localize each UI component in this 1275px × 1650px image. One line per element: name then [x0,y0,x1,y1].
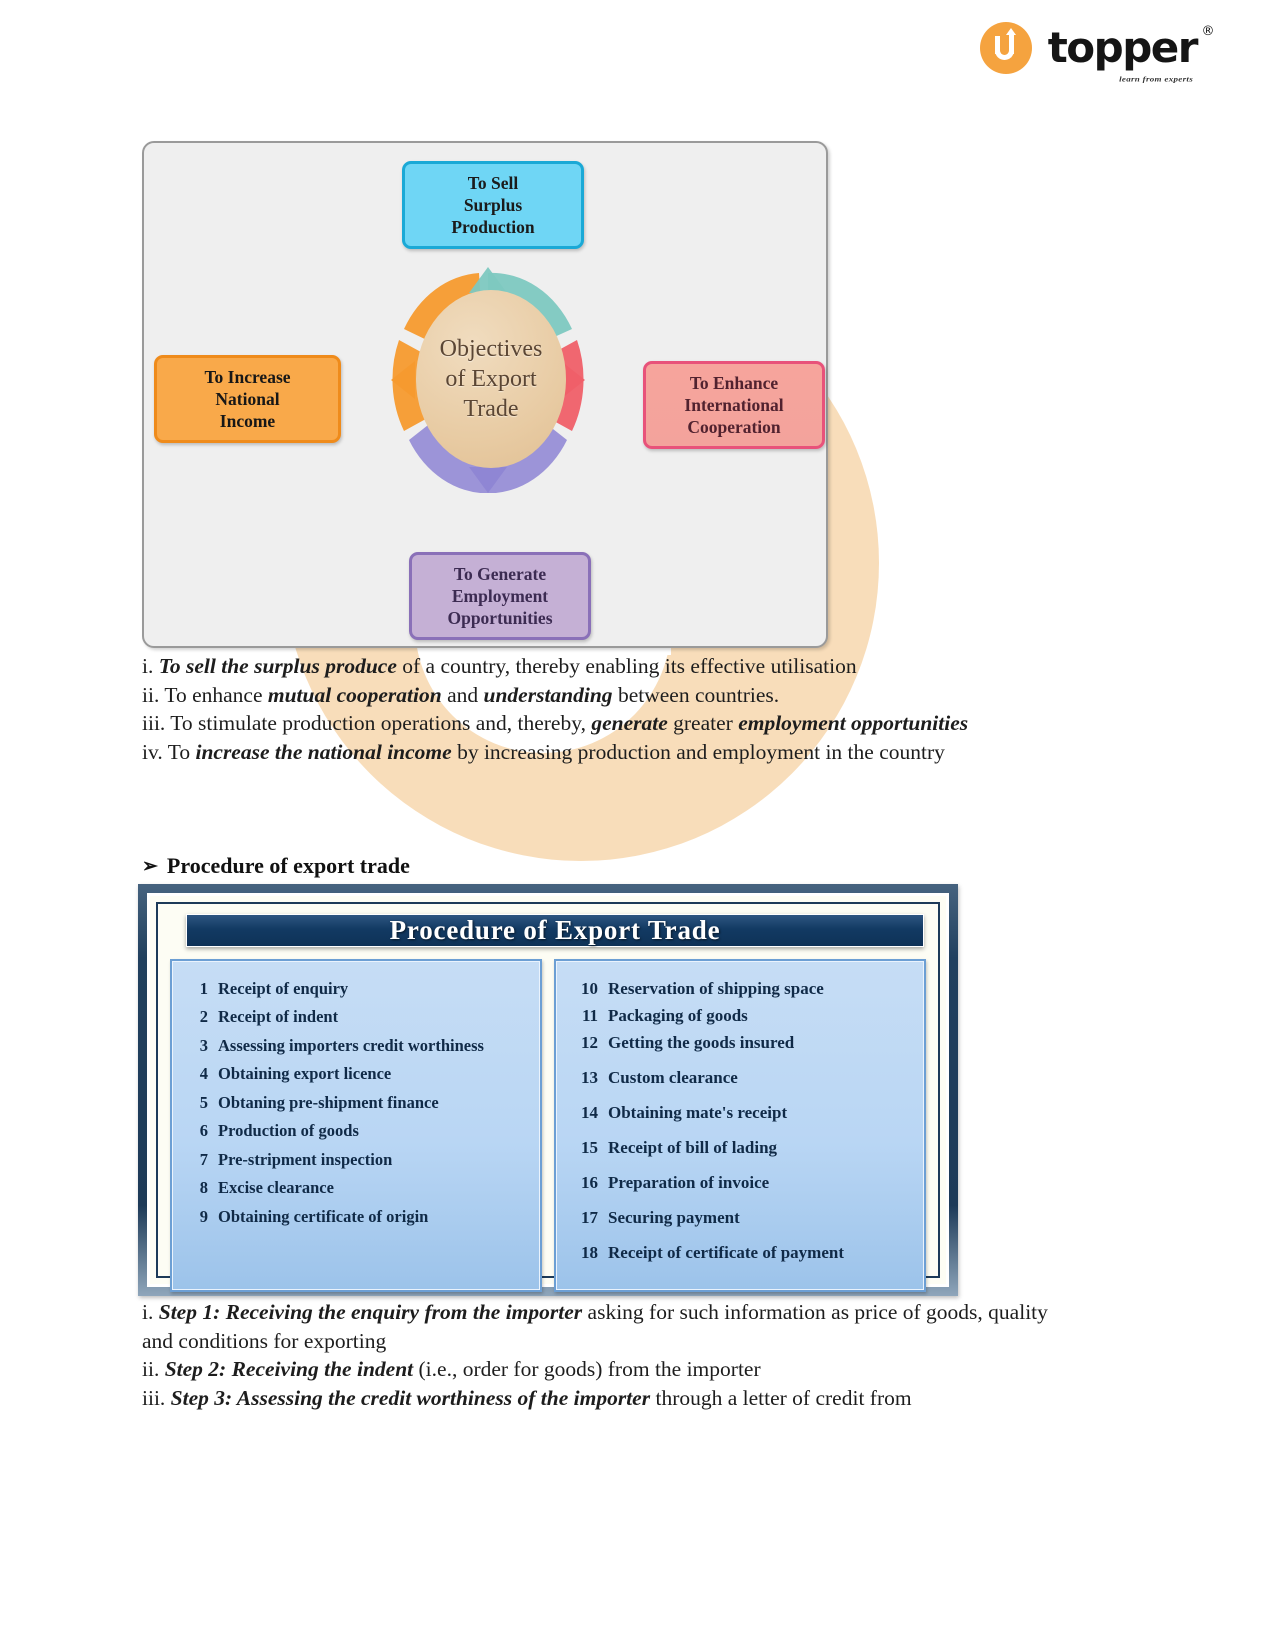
export-steps-list: i. Step 1: Receiving the enquiry from th… [142,1298,1072,1412]
node-label: To IncreaseNationalIncome [204,367,290,431]
node-label: To SellSurplusProduction [451,173,534,237]
procedure-step-number: 3 [184,1036,208,1055]
procedure-step-number: 16 [568,1173,598,1193]
procedure-step-number: 2 [184,1007,208,1026]
procedure-step-label: Preparation of invoice [608,1173,769,1193]
list-item: ii. Step 2: Receiving the indent (i.e., … [142,1355,1072,1384]
objective-node-generate-employment-opportunities: To GenerateEmploymentOpportunities [409,552,591,640]
emphasised-run: Step 1: Receiving the enquiry from the i… [159,1300,582,1324]
list-item: ii. To enhance mutual cooperation and un… [142,681,1037,710]
list-marker: ii. [142,683,164,707]
emphasised-run: employment opportunities [738,711,968,735]
procedure-step-number: 1 [184,979,208,998]
emphasised-run: mutual cooperation [268,683,442,707]
procedure-step-label: Receipt of bill of lading [608,1138,777,1158]
objectives-list: i. To sell the surplus produce of a coun… [142,652,1037,766]
procedure-step-item: 11Packaging of goods [568,1006,914,1026]
list-item: i. Step 1: Receiving the enquiry from th… [142,1298,1072,1355]
text-run: To enhance [164,683,268,707]
logo-wordmark: topper ® learn from experts [1048,27,1197,69]
text-run: of a country, thereby enabling its effec… [397,654,857,678]
procedure-of-export-trade-heading: ➢ Procedure of export trade [142,853,410,879]
procedure-step-label: Securing payment [608,1208,740,1228]
procedure-step-label: Assessing importers credit worthiness [218,1036,484,1055]
procedure-steps-column-left: 1Receipt of enquiry2Receipt of indent3As… [170,959,542,1292]
procedure-step-item: 14Obtaining mate's receipt [568,1103,914,1123]
procedure-step-number: 15 [568,1138,598,1158]
list-item: iii. Step 3: Assessing the credit worthi… [142,1384,1072,1413]
text-run: and [442,683,484,707]
list-item: i. To sell the surplus produce of a coun… [142,652,1037,681]
procedure-step-label: Receipt of indent [218,1007,338,1026]
procedure-step-number: 4 [184,1064,208,1083]
list-marker: iv. [142,740,168,764]
procedure-step-item: 15Receipt of bill of lading [568,1138,914,1158]
topper-logo: topper ® learn from experts [980,22,1197,74]
procedure-step-item: 17Securing payment [568,1208,914,1228]
registered-mark: ® [1202,25,1214,38]
objective-node-sell-surplus-production: To SellSurplusProduction [402,161,584,249]
text-run: between countries. [613,683,780,707]
procedure-step-label: Obtaning pre-shipment finance [218,1093,439,1112]
emphasised-run: increase the national income [195,740,451,764]
emphasised-run: understanding [484,683,613,707]
procedure-step-number: 8 [184,1178,208,1197]
logo-wordmark-text: topper [1048,23,1197,72]
procedure-step-label: Production of goods [218,1121,359,1140]
emphasised-run: To sell the surplus produce [159,654,397,678]
procedure-step-label: Pre-stripment inspection [218,1150,392,1169]
procedure-step-item: 18Receipt of certificate of payment [568,1243,914,1263]
emphasised-run: generate [591,711,667,735]
list-marker: iii. [142,711,170,735]
list-marker: i. [142,1300,159,1324]
procedure-step-label: Excise clearance [218,1178,334,1197]
objective-node-enhance-international-cooperation: To EnhanceInternationalCooperation [643,361,825,449]
procedure-step-item: 4Obtaining export licence [184,1064,530,1083]
text-run: To stimulate production operations and, … [170,711,591,735]
text-run: through a letter of credit from [650,1386,912,1410]
procedure-step-item: 8Excise clearance [184,1178,530,1197]
procedure-step-item: 13Custom clearance [568,1068,914,1088]
procedure-step-item: 2Receipt of indent [184,1007,530,1026]
procedure-step-label: Receipt of certificate of payment [608,1243,844,1263]
center-label-text: Objectivesof ExportTrade [440,334,543,424]
list-item: iv. To increase the national income by i… [142,738,1037,767]
list-item: iii. To stimulate production operations … [142,709,1037,738]
emphasised-run: Step 2: Receiving the indent [165,1357,413,1381]
procedure-title-text: Procedure of Export Trade [390,915,721,946]
text-run: (i.e., order for goods) from the importe… [413,1357,760,1381]
text-run: greater [668,711,738,735]
procedure-step-label: Obtaining export licence [218,1064,391,1083]
procedure-step-number: 14 [568,1103,598,1123]
emphasised-run: Step 3: Assessing the credit worthiness … [171,1386,650,1410]
procedure-step-number: 5 [184,1093,208,1112]
procedure-steps-column-right: 10Reservation of shipping space11Packagi… [554,959,926,1292]
procedure-step-label: Getting the goods insured [608,1033,794,1053]
procedure-step-label: Reservation of shipping space [608,979,824,999]
procedure-step-number: 10 [568,979,598,999]
u-arrow-badge-icon [980,22,1032,74]
procedure-step-number: 9 [184,1207,208,1226]
list-marker: ii. [142,1357,165,1381]
procedure-step-item: 10Reservation of shipping space [568,979,914,999]
procedure-step-item: 12Getting the goods insured [568,1033,914,1053]
procedure-step-number: 17 [568,1208,598,1228]
diagram-center-label: Objectivesof ExportTrade [416,290,566,468]
procedure-step-item: 16Preparation of invoice [568,1173,914,1193]
procedure-step-label: Custom clearance [608,1068,738,1088]
procedure-step-number: 18 [568,1243,598,1263]
text-run: by increasing production and employment … [452,740,945,764]
arrow-bullet-icon: ➢ [142,855,158,878]
procedure-step-item: 5Obtaning pre-shipment finance [184,1093,530,1112]
procedure-step-item: 7Pre-stripment inspection [184,1150,530,1169]
procedure-step-number: 6 [184,1121,208,1140]
procedure-step-number: 11 [568,1006,598,1026]
procedure-step-number: 12 [568,1033,598,1053]
procedure-step-label: Receipt of enquiry [218,979,348,998]
procedure-step-number: 7 [184,1150,208,1169]
procedure-step-item: 9Obtaining certificate of origin [184,1207,530,1226]
procedure-figure-title: Procedure of Export Trade [186,914,924,947]
list-marker: i. [142,654,159,678]
heading-text: Procedure of export trade [167,853,410,879]
procedure-step-label: Obtaining certificate of origin [218,1207,428,1226]
node-label: To GenerateEmploymentOpportunities [447,564,552,628]
procedure-step-item: 3Assessing importers credit worthiness [184,1036,530,1055]
objective-node-increase-national-income: To IncreaseNationalIncome [154,355,341,443]
procedure-step-item: 6Production of goods [184,1121,530,1140]
text-run: To [168,740,196,764]
logo-tagline: learn from experts [1119,76,1193,83]
procedure-step-label: Obtaining mate's receipt [608,1103,787,1123]
objectives-of-export-trade-diagram: Objectivesof ExportTrade To SellSurplusP… [142,141,828,648]
procedure-step-item: 1Receipt of enquiry [184,979,530,998]
procedure-of-export-trade-figure: Procedure of Export Trade 1Receipt of en… [138,884,958,1296]
list-marker: iii. [142,1386,171,1410]
procedure-step-number: 13 [568,1068,598,1088]
node-label: To EnhanceInternationalCooperation [684,373,783,437]
procedure-step-label: Packaging of goods [608,1006,748,1026]
